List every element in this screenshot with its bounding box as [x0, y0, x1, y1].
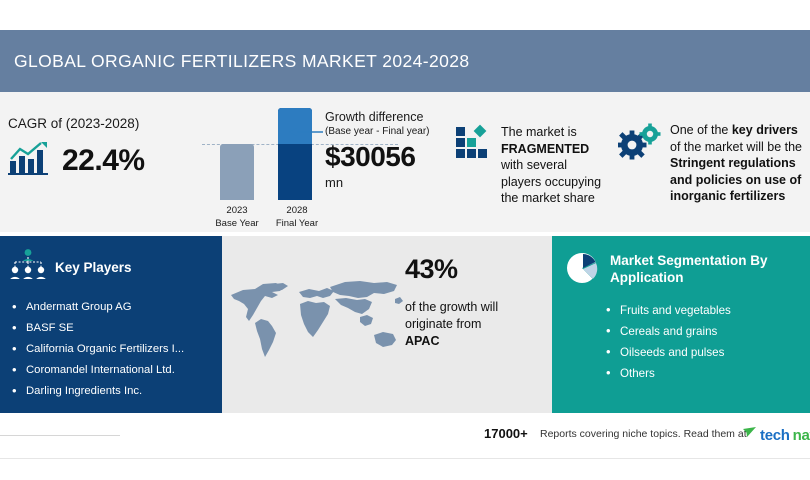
key-players-title: Key Players [55, 260, 132, 275]
list-item: Andermatt Group AG [12, 297, 222, 318]
cagr-value: 22.4% [62, 144, 145, 178]
apac-line-2: originate from [405, 317, 481, 331]
list-item: Darling Ingredients Inc. [12, 381, 222, 402]
footer: 17000+ Reports covering niche topics. Re… [0, 413, 810, 458]
key-players-list: Andermatt Group AG BASF SE California Or… [0, 297, 222, 402]
logo-text-tech: tech [760, 427, 790, 444]
frag-line-3: with several [501, 158, 567, 172]
drivers-body-bold: Stringent regulations and policies on us… [670, 156, 801, 203]
list-item: Coromandel International Ltd. [12, 360, 222, 381]
left-arrow-icon [289, 124, 323, 134]
frag-line-4: players occupying [501, 175, 601, 189]
footer-divider [0, 435, 120, 436]
list-item: Cereals and grains [606, 321, 810, 342]
key-drivers-text: One of the key drivers of the market wil… [670, 122, 810, 205]
segmentation-title: Market Segmentation By Application [610, 252, 790, 286]
list-item: Others [606, 363, 810, 384]
bottom-divider [0, 458, 810, 459]
bar-label-final-year: 2028 Final Year [266, 204, 328, 230]
list-item: Fruits and vegetables [606, 300, 810, 321]
apac-panel: 43% of the growth will originate from AP… [222, 236, 552, 413]
header-band: GLOBAL ORGANIC FERTILIZERS MARKET 2024-2… [0, 30, 810, 92]
bar-label-base-year: 2023 Base Year [206, 204, 268, 230]
list-item: California Organic Fertilizers I... [12, 339, 222, 360]
technavio-arrow-icon [742, 425, 757, 445]
list-item: BASF SE [12, 318, 222, 339]
frag-line-5: the market share [501, 191, 595, 205]
apac-description: of the growth will originate from APAC [405, 299, 545, 350]
world-map-icon [224, 254, 404, 384]
footer-text: Reports covering niche topics. Read them… [540, 428, 747, 440]
cagr-label: CAGR of (2023-2028) [8, 116, 198, 131]
apac-stat-block: 43% of the growth will originate from AP… [405, 254, 545, 350]
technavio-logo[interactable]: tech navi [742, 425, 810, 445]
market-fragmentation-text: The market is FRAGMENTED with several pl… [501, 124, 601, 207]
growth-difference-title: Growth difference [325, 110, 490, 125]
infographic-page: GLOBAL ORGANIC FERTILIZERS MARKET 2024-2… [0, 0, 810, 480]
key-players-panel: Key Players Andermatt Group AG BASF SE C… [0, 236, 222, 413]
panels-row: Key Players Andermatt Group AG BASF SE C… [0, 236, 810, 413]
apac-region: APAC [405, 334, 440, 348]
page-title: GLOBAL ORGANIC FERTILIZERS MARKET 2024-2… [0, 51, 470, 72]
report-count: 17000+ [484, 426, 528, 441]
drivers-line-2: of the market will be the [670, 140, 802, 154]
apac-line-1: of the growth will [405, 300, 498, 314]
stats-row: CAGR of (2023-2028) 22.4% [0, 92, 810, 232]
pie-chart-icon [566, 252, 600, 291]
segmentation-list: Fruits and vegetables Cereals and grains… [552, 300, 810, 384]
squares-diamond-icon [455, 124, 491, 207]
org-chart-people-icon [10, 248, 46, 287]
key-drivers-block: One of the key drivers of the market wil… [618, 122, 810, 205]
bar-final-year [278, 108, 312, 200]
drivers-line-1-bold: key drivers [732, 123, 798, 137]
cagr-block: CAGR of (2023-2028) 22.4% [8, 116, 198, 180]
frag-line-1: The market is [501, 125, 577, 139]
bar-chart-growth-icon [8, 141, 50, 180]
drivers-line-1-pre: One of the [670, 123, 732, 137]
apac-percent: 43% [405, 254, 545, 285]
bar-base-year [220, 144, 254, 200]
frag-line-2: FRAGMENTED [501, 142, 589, 156]
list-item: Oilseeds and pulses [606, 342, 810, 363]
gears-icon [618, 122, 662, 205]
logo-text-navi: navi [793, 427, 810, 444]
segmentation-panel: Market Segmentation By Application Fruit… [552, 236, 810, 413]
market-fragmentation-block: The market is FRAGMENTED with several pl… [455, 124, 625, 207]
